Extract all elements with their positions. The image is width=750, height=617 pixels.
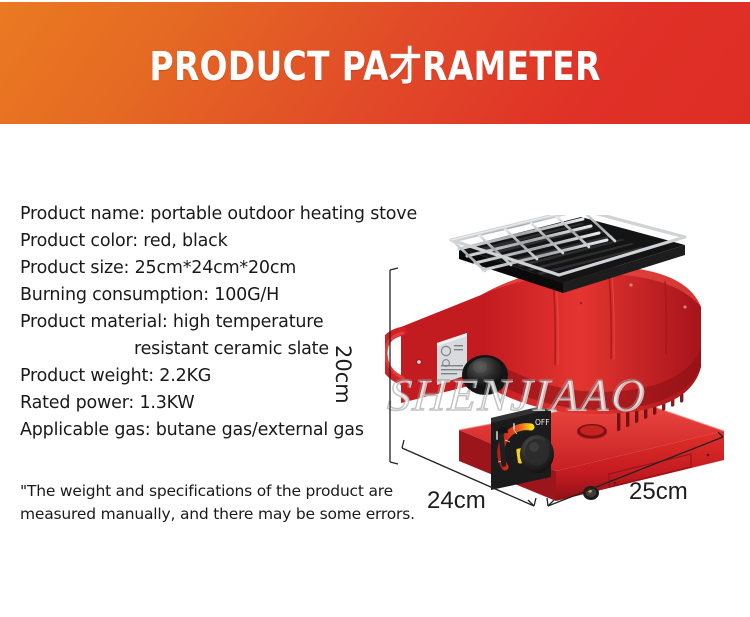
specification-list: Product name: portable outdoor heating s… [20, 201, 380, 444]
product-parameter-page: PRODUCT PA才RAMETER Product name: portabl… [0, 0, 750, 617]
spec-burning-consumption: Burning consumption: 100G/H [20, 282, 380, 309]
spec-rated-power: Rated power: 1.3KW [20, 390, 380, 417]
control-off-label: OFF [535, 418, 550, 427]
page-title: PRODUCT PA才RAMETER [149, 34, 600, 92]
spec-product-material: Product material: high temperature [20, 309, 380, 336]
spec-product-color: Product color: red, black [20, 228, 380, 255]
dimension-width-label: 25cm [629, 478, 688, 506]
spec-product-size: Product size: 25cm*24cm*20cm [20, 255, 380, 282]
spec-product-weight: Product weight: 2.2KG [20, 363, 380, 390]
page-header-banner: PRODUCT PA才RAMETER [0, 2, 750, 124]
dimension-depth-label: 24cm [427, 487, 486, 515]
spec-product-material-cont: resistant ceramic slate [20, 336, 380, 363]
spec-applicable-gas: Applicable gas: butane gas/external gas [20, 417, 380, 444]
product-image: OFF [385, 215, 735, 515]
disclaimer-line-1: "The weight and specifications of the pr… [20, 480, 380, 503]
control-panel: OFF [491, 404, 554, 490]
dimension-height-label: 20cm [331, 345, 355, 404]
measurement-disclaimer: "The weight and specifications of the pr… [20, 480, 380, 526]
disclaimer-line-2: measured manually, and there may be some… [20, 503, 380, 526]
product-heater-body [385, 266, 701, 414]
spec-product-name: Product name: portable outdoor heating s… [20, 201, 380, 228]
